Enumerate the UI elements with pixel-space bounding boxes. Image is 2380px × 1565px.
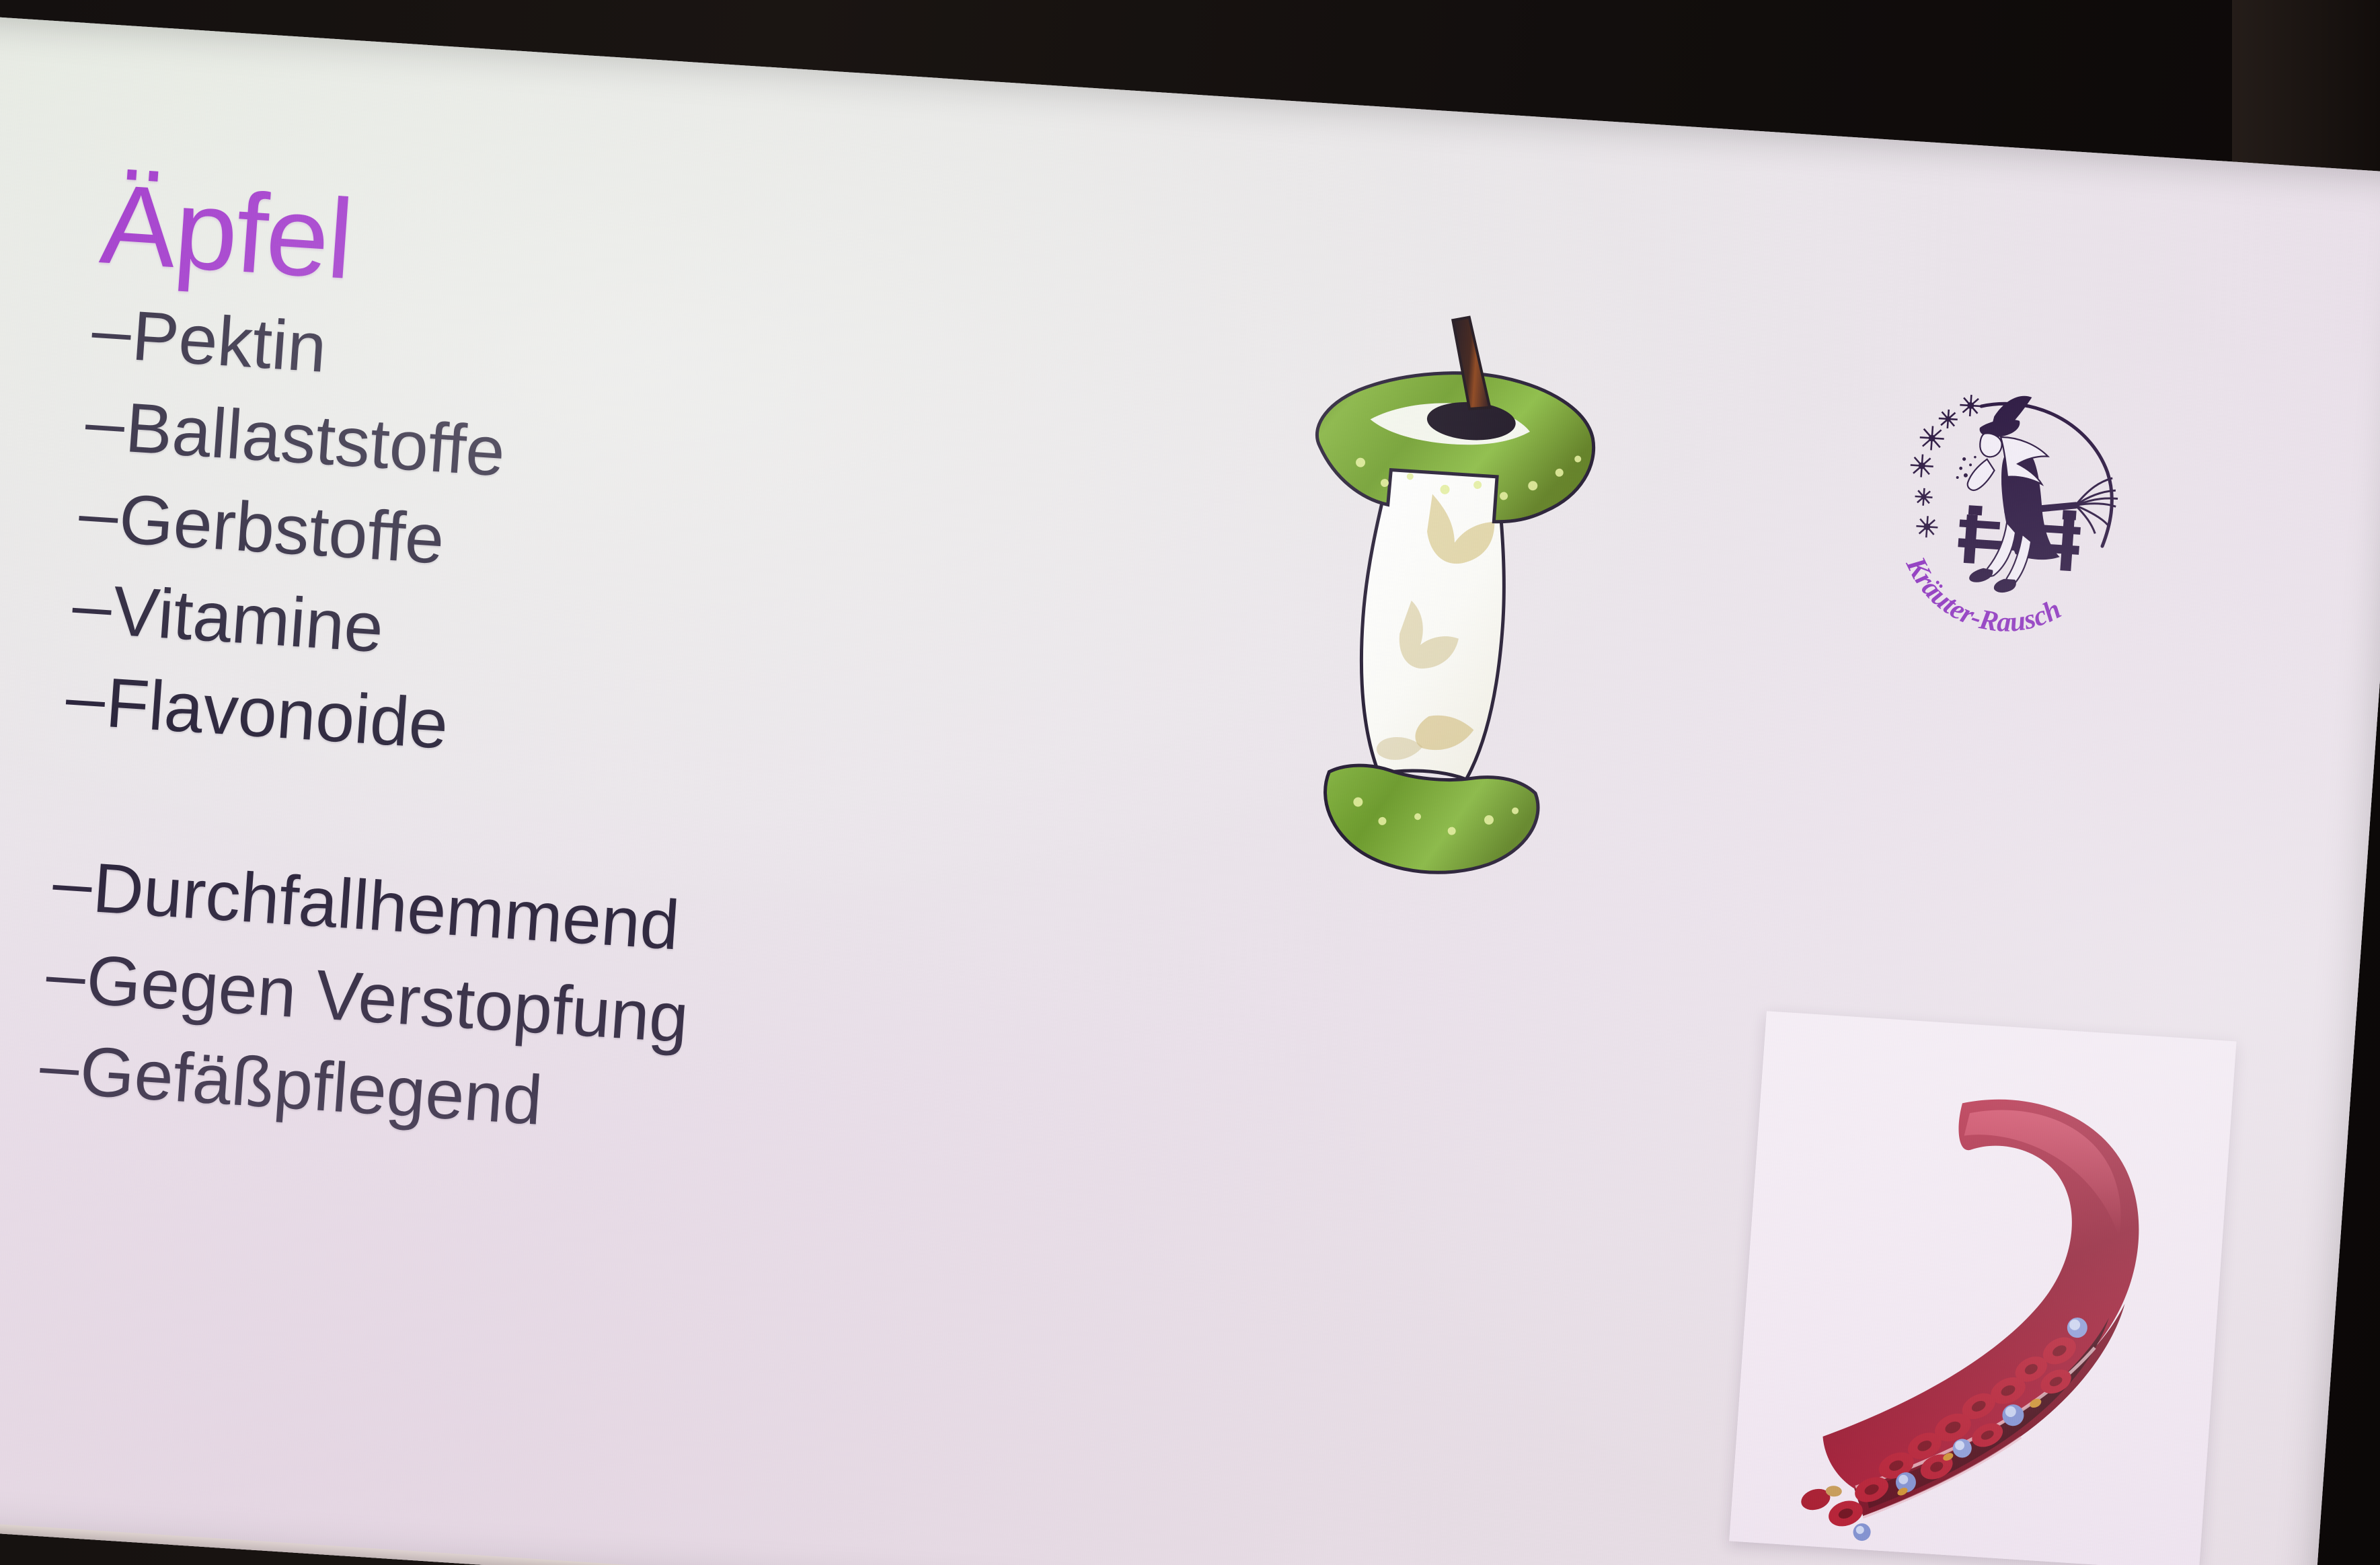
dash-bullet-icon: – — [64, 661, 98, 733]
list-item-label: Ballaststoffe — [123, 387, 508, 493]
bullet-group-inhaltsstoffe: – Pektin – Ballaststoffe – Gerbstoffe – … — [63, 293, 1169, 810]
list-item-label: Gerbstoffe — [116, 479, 447, 581]
list-item-label: Gefäßpflegend — [77, 1031, 545, 1142]
projection-screen: Äpfel – Pektin – Ballaststoffe – Gerbsto… — [0, 12, 2380, 1565]
dash-bullet-icon: – — [44, 938, 79, 1010]
slide-surface: Äpfel – Pektin – Ballaststoffe – Gerbsto… — [0, 12, 2380, 1565]
dash-bullet-icon: – — [51, 847, 85, 919]
bullet-group-wirkungen: – Durchfallhemmend – Gegen Verstopfung –… — [37, 845, 1130, 1179]
logo-brand-text: Kräuter-Rausch — [1895, 550, 2071, 642]
list-item-label: Vitamine — [110, 570, 386, 669]
bullet-content: – Pektin – Ballaststoffe – Gerbstoffe – … — [36, 293, 1169, 1190]
dash-bullet-icon: – — [77, 478, 111, 549]
page-title: Äpfel — [97, 159, 356, 305]
apple-core-icon — [1236, 295, 1627, 908]
dash-bullet-icon: – — [90, 295, 124, 367]
blood-vessel-image — [1729, 1011, 2236, 1565]
kraeuter-rausch-logo: Kräuter-Rausch — [1864, 365, 2151, 651]
photo-of-projected-slide: Äpfel – Pektin – Ballaststoffe – Gerbsto… — [0, 0, 2380, 1565]
list-item-label: Pektin — [130, 296, 330, 389]
dash-bullet-icon: – — [71, 570, 105, 642]
list-item-label: Flavonoide — [104, 662, 451, 765]
dash-bullet-icon: – — [38, 1030, 72, 1102]
dash-bullet-icon: – — [83, 386, 118, 458]
